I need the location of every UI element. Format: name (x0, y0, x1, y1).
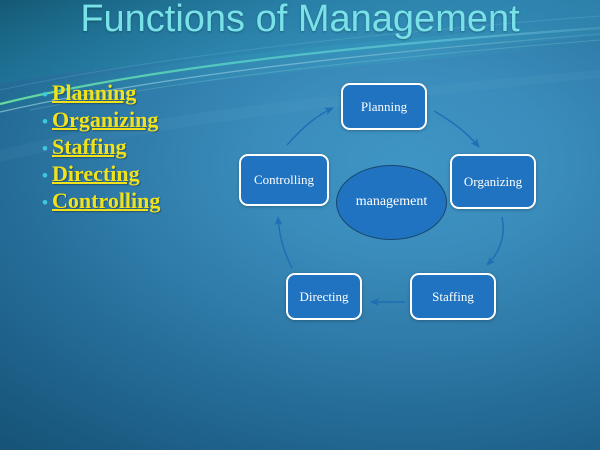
list-item: • Planning (42, 82, 242, 104)
diagram-node-label: Controlling (254, 172, 314, 188)
diagram-node-staffing[interactable]: Staffing (410, 273, 496, 320)
diagram-node-label: Staffing (432, 289, 474, 305)
list-item: • Controlling (42, 190, 242, 212)
bullet-dot-icon: • (42, 194, 51, 211)
bullet-label-controlling: Controlling (52, 190, 160, 212)
bullet-dot-icon: • (42, 113, 51, 130)
arrow-controlling-to-planning (287, 108, 333, 145)
page-title: Functions of Management (0, 0, 600, 41)
slide-canvas: Functions of Management • Planning • Org… (0, 0, 600, 450)
diagram-node-label: Directing (299, 289, 348, 305)
arrow-organizing-to-staffing (487, 217, 503, 265)
diagram-node-organizing[interactable]: Organizing (450, 154, 536, 209)
management-cycle-diagram: Planning Organizing Staffing Directing C… (225, 65, 565, 355)
bullet-dot-icon: • (42, 86, 51, 103)
diagram-node-label: Organizing (464, 174, 522, 190)
bullet-label-staffing: Staffing (52, 136, 127, 158)
diagram-node-controlling[interactable]: Controlling (239, 154, 329, 206)
diagram-center-label: management (356, 194, 428, 210)
arrow-directing-to-controlling (278, 217, 292, 268)
bullet-label-organizing: Organizing (52, 109, 158, 131)
diagram-node-directing[interactable]: Directing (286, 273, 362, 320)
bullet-dot-icon: • (42, 167, 51, 184)
list-item: • Organizing (42, 109, 242, 131)
diagram-center-node-management[interactable]: management (336, 165, 447, 240)
list-item: • Directing (42, 163, 242, 185)
diagram-node-label: Planning (361, 99, 407, 115)
bullet-dot-icon: • (42, 140, 51, 157)
arrow-planning-to-organizing (434, 111, 479, 147)
list-item: • Staffing (42, 136, 242, 158)
bullet-label-directing: Directing (52, 163, 140, 185)
functions-bullet-list: • Planning • Organizing • Staffing • Dir… (42, 82, 242, 217)
diagram-node-planning[interactable]: Planning (341, 83, 427, 130)
bullet-label-planning: Planning (52, 82, 136, 104)
